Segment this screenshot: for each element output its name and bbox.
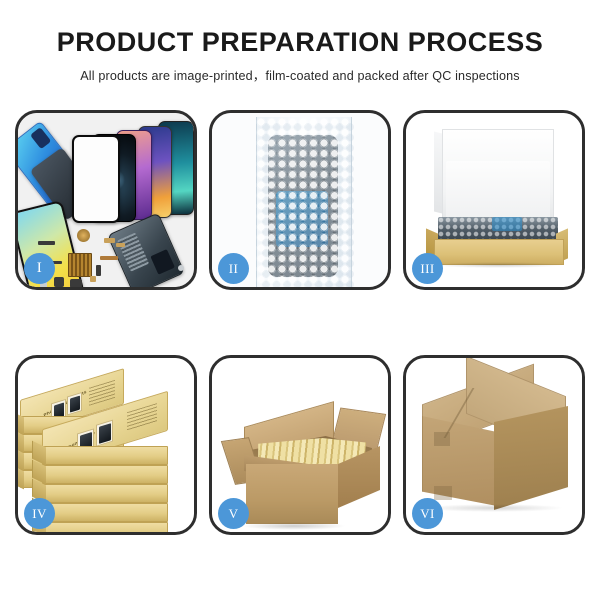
- page-header: PRODUCT PREPARATION PROCESS All products…: [0, 0, 600, 84]
- yellow-box-layer: [42, 503, 168, 522]
- part-gold-clip-2: [116, 243, 125, 247]
- step-badge-4: IV: [24, 498, 55, 529]
- part-small-module: [96, 265, 101, 276]
- step-badge-6: VI: [412, 498, 443, 529]
- part-speaker: [77, 229, 90, 242]
- carton-shadow: [242, 522, 346, 530]
- part-gold-clip: [104, 238, 115, 243]
- carton-tape-upper: [434, 432, 450, 446]
- part-flex-strip: [38, 241, 55, 245]
- packed-item-blue-accent: [492, 217, 522, 231]
- part-copper-flex: [100, 256, 118, 260]
- carton-shadow: [424, 504, 564, 512]
- foam-insert: [446, 161, 550, 219]
- carton-front-face: [246, 464, 338, 524]
- part-screw-set: [90, 276, 96, 282]
- process-step-panel-4: Mobile Phone Spare Parts Mobile Phone Sp…: [15, 355, 197, 535]
- page-title: PRODUCT PREPARATION PROCESS: [0, 28, 600, 56]
- carton-shadow: [432, 262, 564, 268]
- process-step-grid: I II III: [0, 110, 600, 535]
- part-tool-tip: [178, 265, 184, 271]
- carton-tape-lower: [434, 486, 452, 500]
- part-vibrator: [70, 279, 82, 287]
- yellow-box-layer: [42, 446, 168, 465]
- process-step-panel-1: I: [15, 110, 197, 290]
- step-badge-1: I: [24, 253, 55, 284]
- process-step-panel-3: III: [403, 110, 585, 290]
- phone-screen-front: [72, 135, 120, 223]
- process-step-panel-6: VI: [403, 355, 585, 535]
- yellow-box-layer: [42, 465, 168, 484]
- yellow-box-layer: [42, 484, 168, 503]
- bubble-wrap-texture: [256, 117, 350, 287]
- step-badge-5: V: [218, 498, 249, 529]
- step-badge-2: II: [218, 253, 249, 284]
- yellow-box-layer: [42, 522, 168, 532]
- process-step-panel-2: II: [209, 110, 391, 290]
- page-subtitle: All products are image-printed，film-coat…: [0, 65, 600, 84]
- part-camera-module: [54, 277, 64, 287]
- step-badge-3: III: [412, 253, 443, 284]
- process-step-panel-5: V: [209, 355, 391, 535]
- part-chip-array: [68, 253, 92, 277]
